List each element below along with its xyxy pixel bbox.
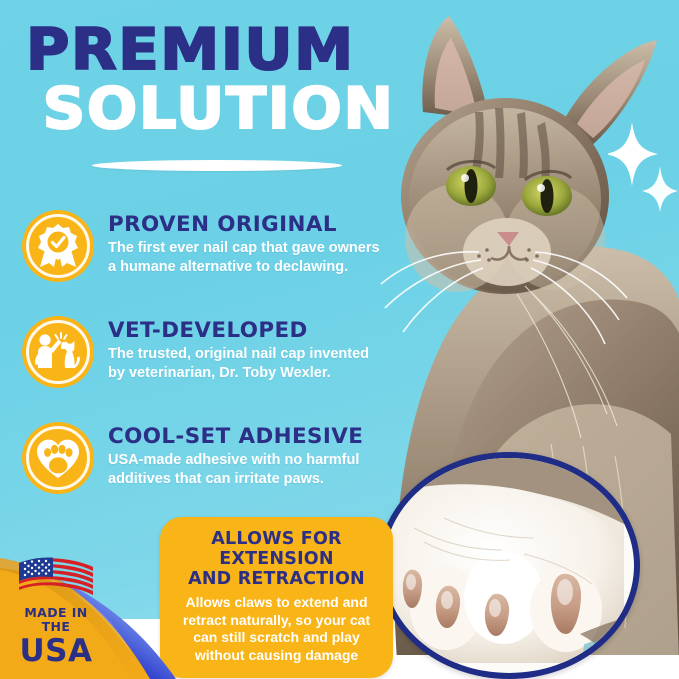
feature-proven-original: PROVEN ORIGINAL The first ever nail cap … — [22, 210, 412, 282]
headline-line-2: SOLUTION — [26, 78, 442, 140]
feature-text: PROVEN ORIGINAL The first ever nail cap … — [108, 210, 380, 277]
person-high-five-cat-icon — [22, 316, 94, 388]
award-ribbon-check-icon — [22, 210, 94, 282]
feature-body: The first ever nail cap that gave owners… — [108, 239, 380, 277]
feature-title: COOL-SET ADHESIVE — [108, 424, 385, 448]
headline-line-1: PREMIUM — [26, 22, 442, 78]
usa-label: USA — [8, 635, 104, 667]
made-in-usa-badge: MADE IN THE USA — [8, 557, 104, 667]
usa-flag-icon — [17, 557, 95, 601]
feature-body: The trusted, original nail cap invented … — [108, 345, 380, 383]
headline: PREMIUM SOLUTION — [26, 22, 426, 140]
cat-paw-with-nail-caps-closeup — [378, 452, 640, 679]
sparkle-stars-decoration — [608, 120, 678, 217]
made-in-label: MADE IN THE — [8, 606, 104, 634]
white-underline-swoosh — [92, 160, 342, 171]
callout-title-line-1: ALLOWS FOR EXTENSION — [211, 529, 341, 569]
callout-title-line-2: AND RETRACTION — [188, 569, 365, 589]
feature-title: VET-DEVELOPED — [108, 318, 385, 342]
feature-text: VET-DEVELOPED The trusted, original nail… — [108, 316, 380, 383]
feature-vet-developed: VET-DEVELOPED The trusted, original nail… — [22, 316, 412, 388]
feature-title: PROVEN ORIGINAL — [108, 212, 385, 236]
infographic-canvas: PREMIUM SOLUTION PROVEN ORIGINAL The fir… — [0, 0, 679, 679]
